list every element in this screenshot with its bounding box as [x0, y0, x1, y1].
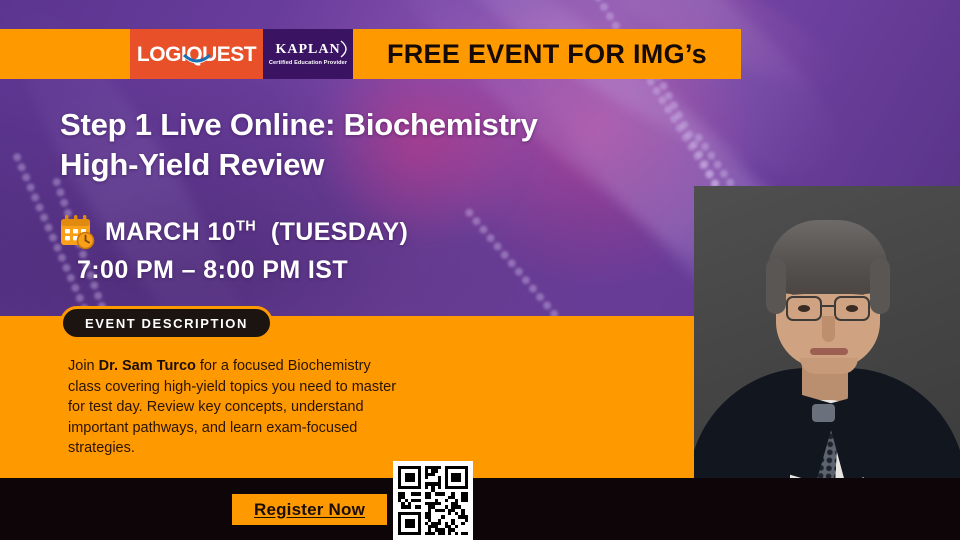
title-line-2: High-Yield Review [60, 145, 700, 185]
qr-code-grid [398, 466, 468, 535]
kaplan-tagline: Certified Education Provider [269, 60, 347, 66]
schedule-block: MARCH 10TH (TUESDAY) 7:00 PM – 8:00 PM I… [58, 213, 408, 285]
event-description-pill-label: EVENT DESCRIPTION [85, 316, 248, 331]
event-date: MARCH 10TH (TUESDAY) [105, 218, 408, 247]
footer-bar [0, 478, 960, 540]
kaplan-swoosh-icon [340, 40, 352, 58]
event-description-pill: EVENT DESCRIPTION [60, 306, 273, 340]
qr-code[interactable] [393, 461, 473, 540]
logiquest-swoosh-icon [182, 54, 212, 69]
free-event-banner: FREE EVENT FOR IMG’s [353, 29, 741, 79]
kaplan-wordmark: KAPLAN [275, 42, 340, 57]
description-band-edge [676, 316, 694, 478]
event-poster: LOGIQUEST KAPLAN Certified Education Pro… [0, 0, 960, 540]
header-bar: LOGIQUEST KAPLAN Certified Education Pro… [0, 29, 741, 79]
title-line-1: Step 1 Live Online: Biochemistry [60, 105, 700, 145]
title-block: Step 1 Live Online: Biochemistry High-Yi… [60, 105, 700, 184]
dna-bead-chain [461, 205, 567, 328]
speaker-name: Dr. Sam Turco [99, 358, 196, 374]
speaker-photo [694, 186, 960, 478]
free-event-banner-text: FREE EVENT FOR IMG’s [387, 39, 707, 70]
register-now-label: Register Now [254, 500, 365, 520]
register-now-button[interactable]: Register Now [232, 494, 387, 525]
event-description-text: Join Dr. Sam Turco for a focused Biochem… [68, 356, 398, 459]
header-left-fill [0, 29, 130, 79]
event-time: 7:00 PM – 8:00 PM IST [58, 256, 408, 285]
logo-logiquest: LOGIQUEST [130, 29, 263, 79]
calendar-clock-icon [58, 213, 96, 251]
logo-kaplan: KAPLAN Certified Education Provider [263, 29, 353, 79]
